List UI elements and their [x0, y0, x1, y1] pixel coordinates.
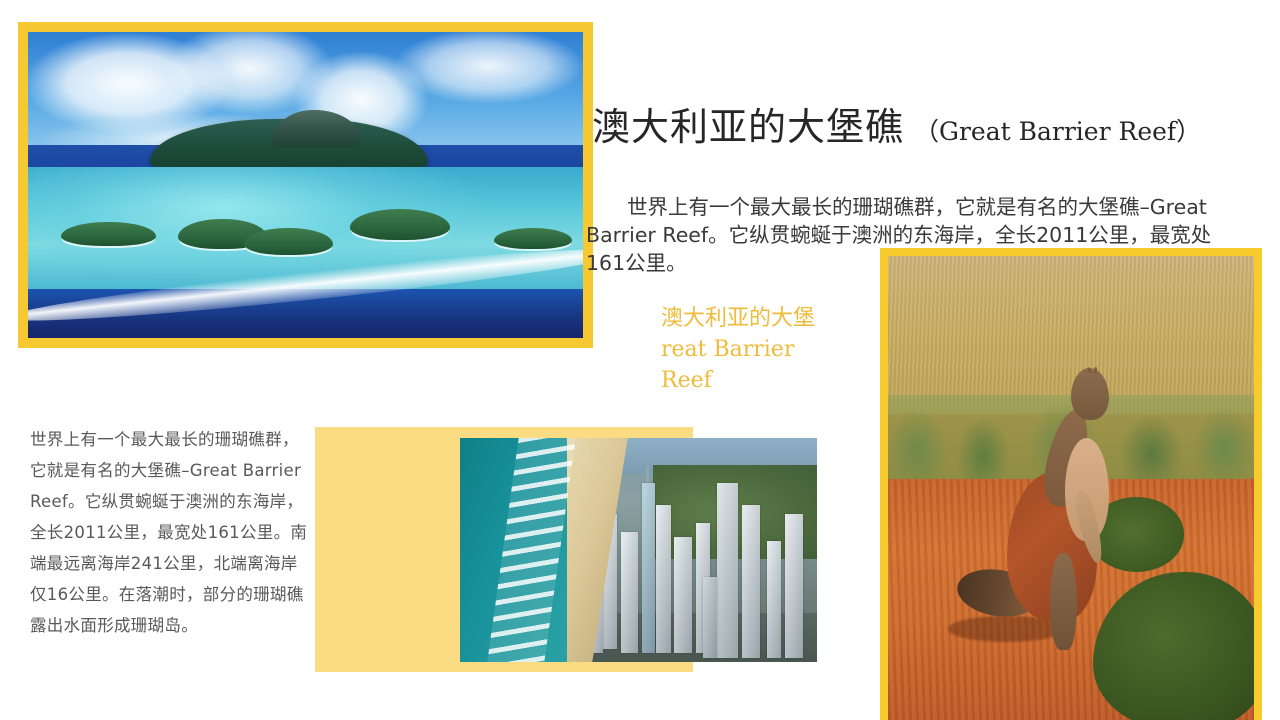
page-title-chinese: 澳大利亚的大堡礁 [592, 105, 904, 149]
kangaroo-photo-content [888, 256, 1254, 720]
reef-photo-content [28, 32, 583, 338]
goldcoast-tower [642, 483, 654, 653]
goldcoast-tower [767, 541, 781, 657]
page-title-english: （Great Barrier Reef） [914, 117, 1201, 146]
kangaroo-ear [1087, 367, 1092, 374]
goldcoast-tower [621, 532, 639, 653]
goldcoast-tower [742, 505, 760, 657]
slide-canvas: 澳大利亚的大堡礁（Great Barrier Reef） 世界上有一个最大最长的… [0, 0, 1280, 720]
goldcoast-tower [674, 537, 692, 653]
kangaroo-head [1071, 368, 1109, 420]
callout-text: 澳大利亚的大堡 reat Barrier Reef [661, 303, 859, 396]
kangaroo-ear [1093, 367, 1097, 374]
kangaroo-leg [1050, 553, 1076, 651]
reef-islet [244, 228, 333, 256]
kangaroo-photo[interactable] [880, 248, 1262, 720]
goldcoast-photo[interactable] [460, 438, 817, 662]
reef-islet [350, 209, 450, 240]
goldcoast-photo-content [460, 438, 817, 662]
reef-islet [494, 228, 572, 249]
goldcoast-tower [785, 514, 803, 657]
goldcoast-tower [717, 483, 738, 658]
side-note-paragraph: 世界上有一个最大最长的珊瑚礁群，它就是有名的大堡礁–Great Barrier … [30, 424, 308, 641]
goldcoast-tower [703, 577, 717, 658]
goldcoast-tower [656, 505, 670, 653]
reef-photo[interactable] [18, 22, 593, 348]
page-title: 澳大利亚的大堡礁（Great Barrier Reef） [592, 96, 1252, 151]
reef-islet [61, 222, 155, 246]
